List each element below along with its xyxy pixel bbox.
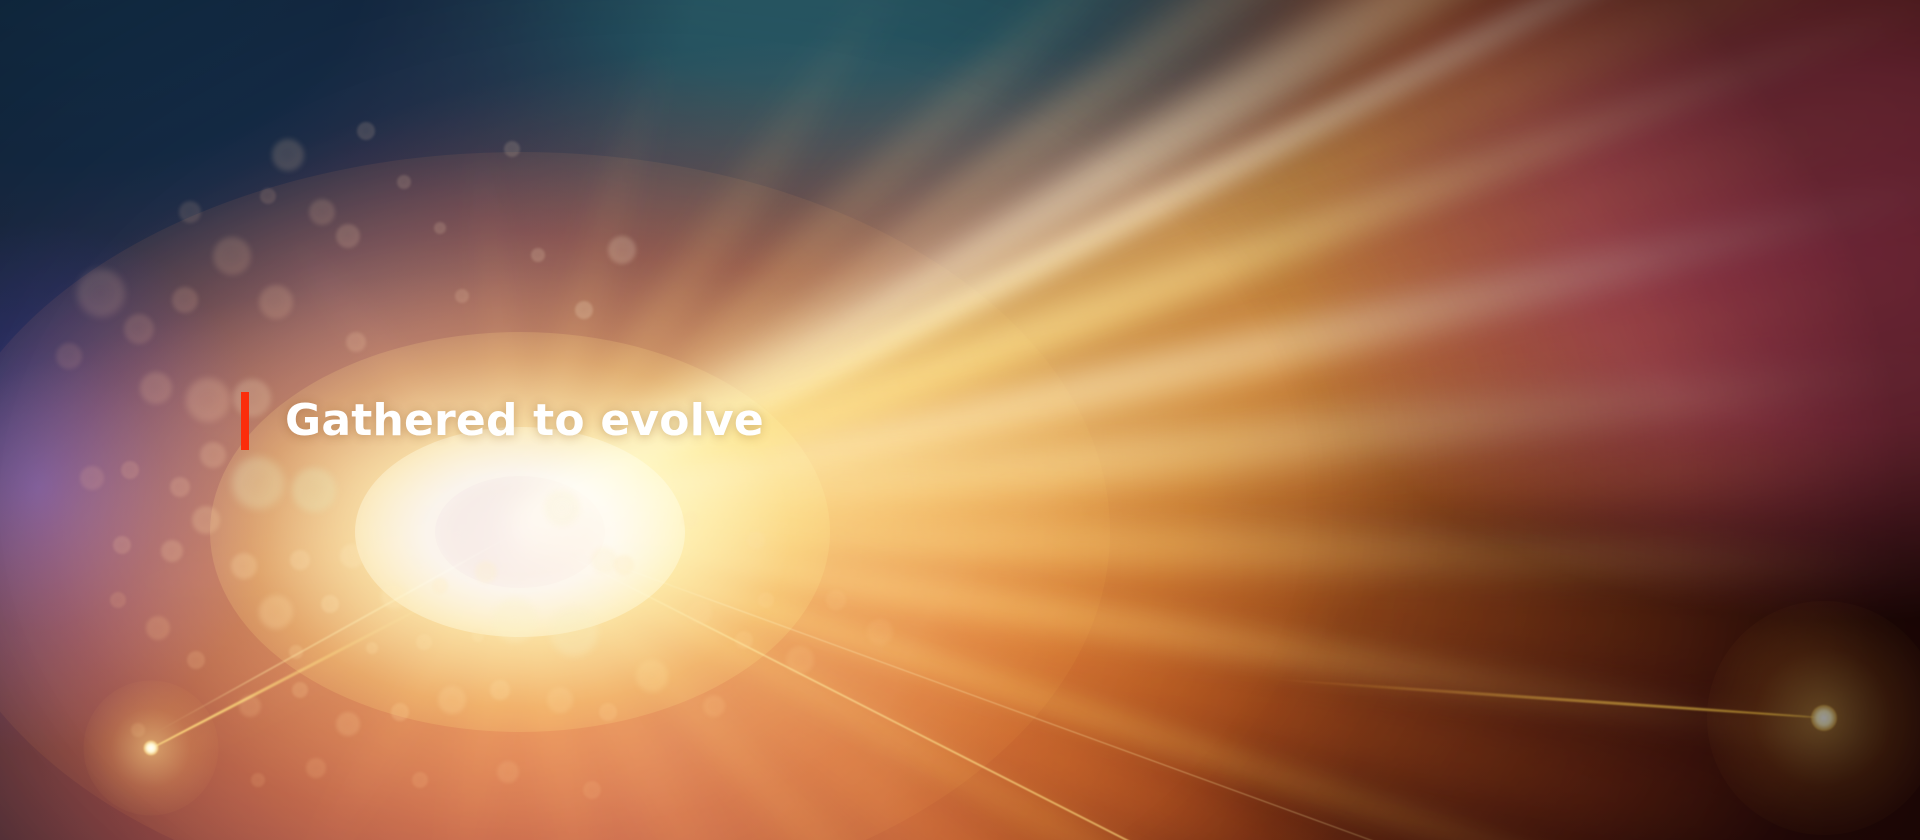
bokeh-dot <box>357 122 375 140</box>
page-title: Gathered to evolve <box>249 392 764 450</box>
bokeh-dot <box>272 139 304 171</box>
headline-block: Gathered to evolve <box>241 392 764 450</box>
accent-bar <box>241 392 249 450</box>
hero-banner: Gathered to evolve <box>0 0 1920 840</box>
core-glow-hotspot <box>435 476 605 588</box>
